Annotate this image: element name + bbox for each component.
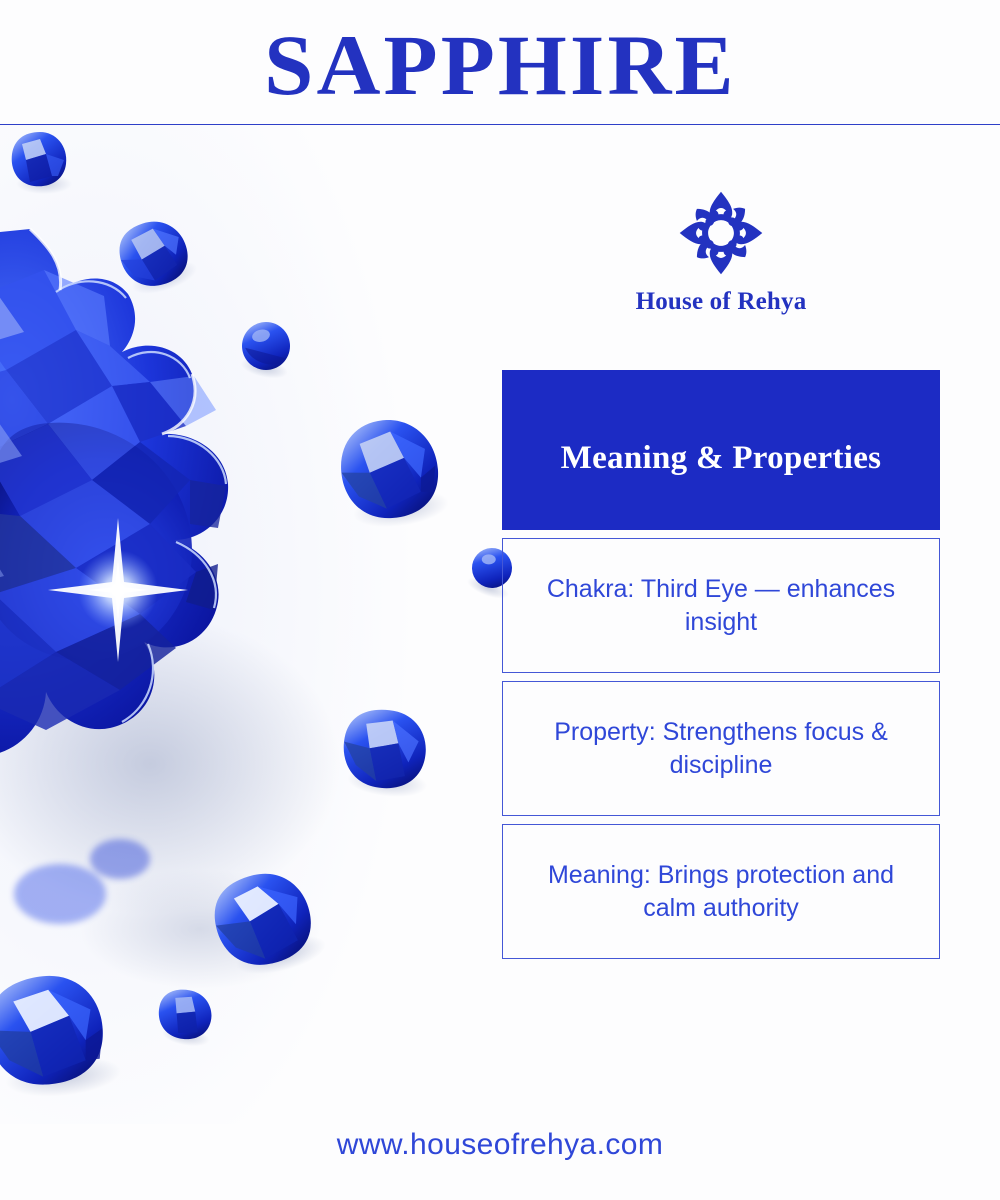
brand-block: House of Rehya [502,190,940,316]
section-header: Meaning & Properties [502,370,940,530]
quatrefoil-medallion-icon [678,190,764,276]
fact-card-property: Property: Strengthens focus & discipline [502,681,940,816]
fact-text-chakra: Chakra: Third Eye — enhances insight [527,573,915,639]
fact-text-meaning: Meaning: Brings protection and calm auth… [527,859,915,925]
poster-header: SAPPHIRE [0,0,1000,124]
fact-card-chakra: Chakra: Third Eye — enhances insight [502,538,940,673]
fact-text-property: Property: Strengthens focus & discipline [527,716,915,782]
poster-canvas: SAPPHIRE [0,0,1000,1200]
gemstone-artwork [0,124,520,1124]
website-url: www.houseofrehya.com [337,1128,664,1162]
header-divider [0,124,1000,125]
poster-footer: www.houseofrehya.com [0,1090,1000,1200]
section-header-title: Meaning & Properties [561,440,882,477]
fact-card-meaning: Meaning: Brings protection and calm auth… [502,824,940,959]
small-sapphire-gem-corner [8,126,78,196]
brand-name: House of Rehya [636,288,807,316]
content-column: Meaning & Properties Chakra: Third Eye —… [502,370,940,959]
page-title: SAPPHIRE [264,16,737,108]
